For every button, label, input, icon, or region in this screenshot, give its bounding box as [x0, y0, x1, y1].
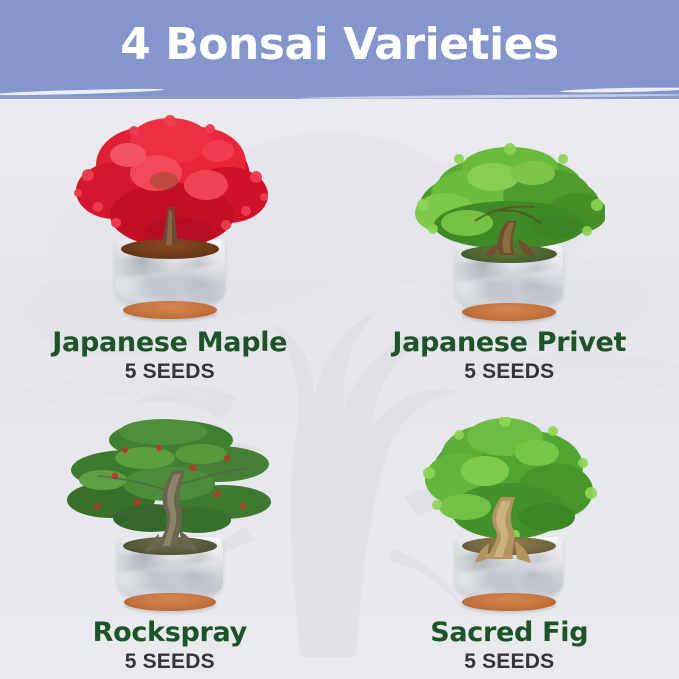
product-image-japanese-maple: [0, 99, 340, 329]
label-rockspray: Rockspray 5 SEEDS: [93, 619, 247, 673]
maple-saucer: [123, 301, 217, 319]
rockspray-trunk: [139, 470, 203, 556]
variety-seed-count: 5 SEEDS: [392, 361, 626, 383]
product-image-sacred-fig: [340, 389, 679, 619]
variety-name: Japanese Privet: [392, 329, 626, 358]
variety-grid: Japanese Maple 5 SEEDS: [0, 99, 679, 679]
product-image-japanese-privet: [340, 99, 679, 329]
header-inner: 4 Bonsai Varieties: [0, 0, 679, 96]
variety-seed-count: 5 SEEDS: [93, 651, 247, 673]
variety-name: Sacred Fig: [430, 619, 588, 648]
label-japanese-privet: Japanese Privet 5 SEEDS: [392, 329, 626, 383]
label-japanese-maple: Japanese Maple 5 SEEDS: [52, 329, 287, 383]
sacred-fig-trunk: [471, 497, 537, 567]
variety-seed-count: 5 SEEDS: [430, 651, 588, 673]
variety-card-sacred-fig[interactable]: Sacred Fig 5 SEEDS: [340, 389, 679, 679]
variety-seed-count: 5 SEEDS: [52, 361, 287, 383]
variety-name: Japanese Maple: [52, 329, 287, 358]
privet-trunk: [481, 221, 539, 263]
product-image-rockspray: [0, 389, 340, 619]
variety-card-japanese-privet[interactable]: Japanese Privet 5 SEEDS: [340, 99, 679, 389]
variety-card-rockspray[interactable]: Rockspray 5 SEEDS: [0, 389, 340, 679]
sacred-fig-saucer: [462, 593, 556, 611]
rockspray-saucer: [124, 593, 216, 611]
maple-trunk: [154, 207, 188, 259]
variety-name: Rockspray: [93, 619, 247, 648]
page-title: 4 Bonsai Varieties: [120, 23, 558, 73]
product-infographic: 4 Bonsai Varieties: [0, 0, 679, 679]
label-sacred-fig: Sacred Fig 5 SEEDS: [430, 619, 588, 673]
privet-saucer: [462, 303, 556, 321]
header-banner: 4 Bonsai Varieties: [0, 0, 679, 99]
variety-card-japanese-maple[interactable]: Japanese Maple 5 SEEDS: [0, 99, 340, 389]
